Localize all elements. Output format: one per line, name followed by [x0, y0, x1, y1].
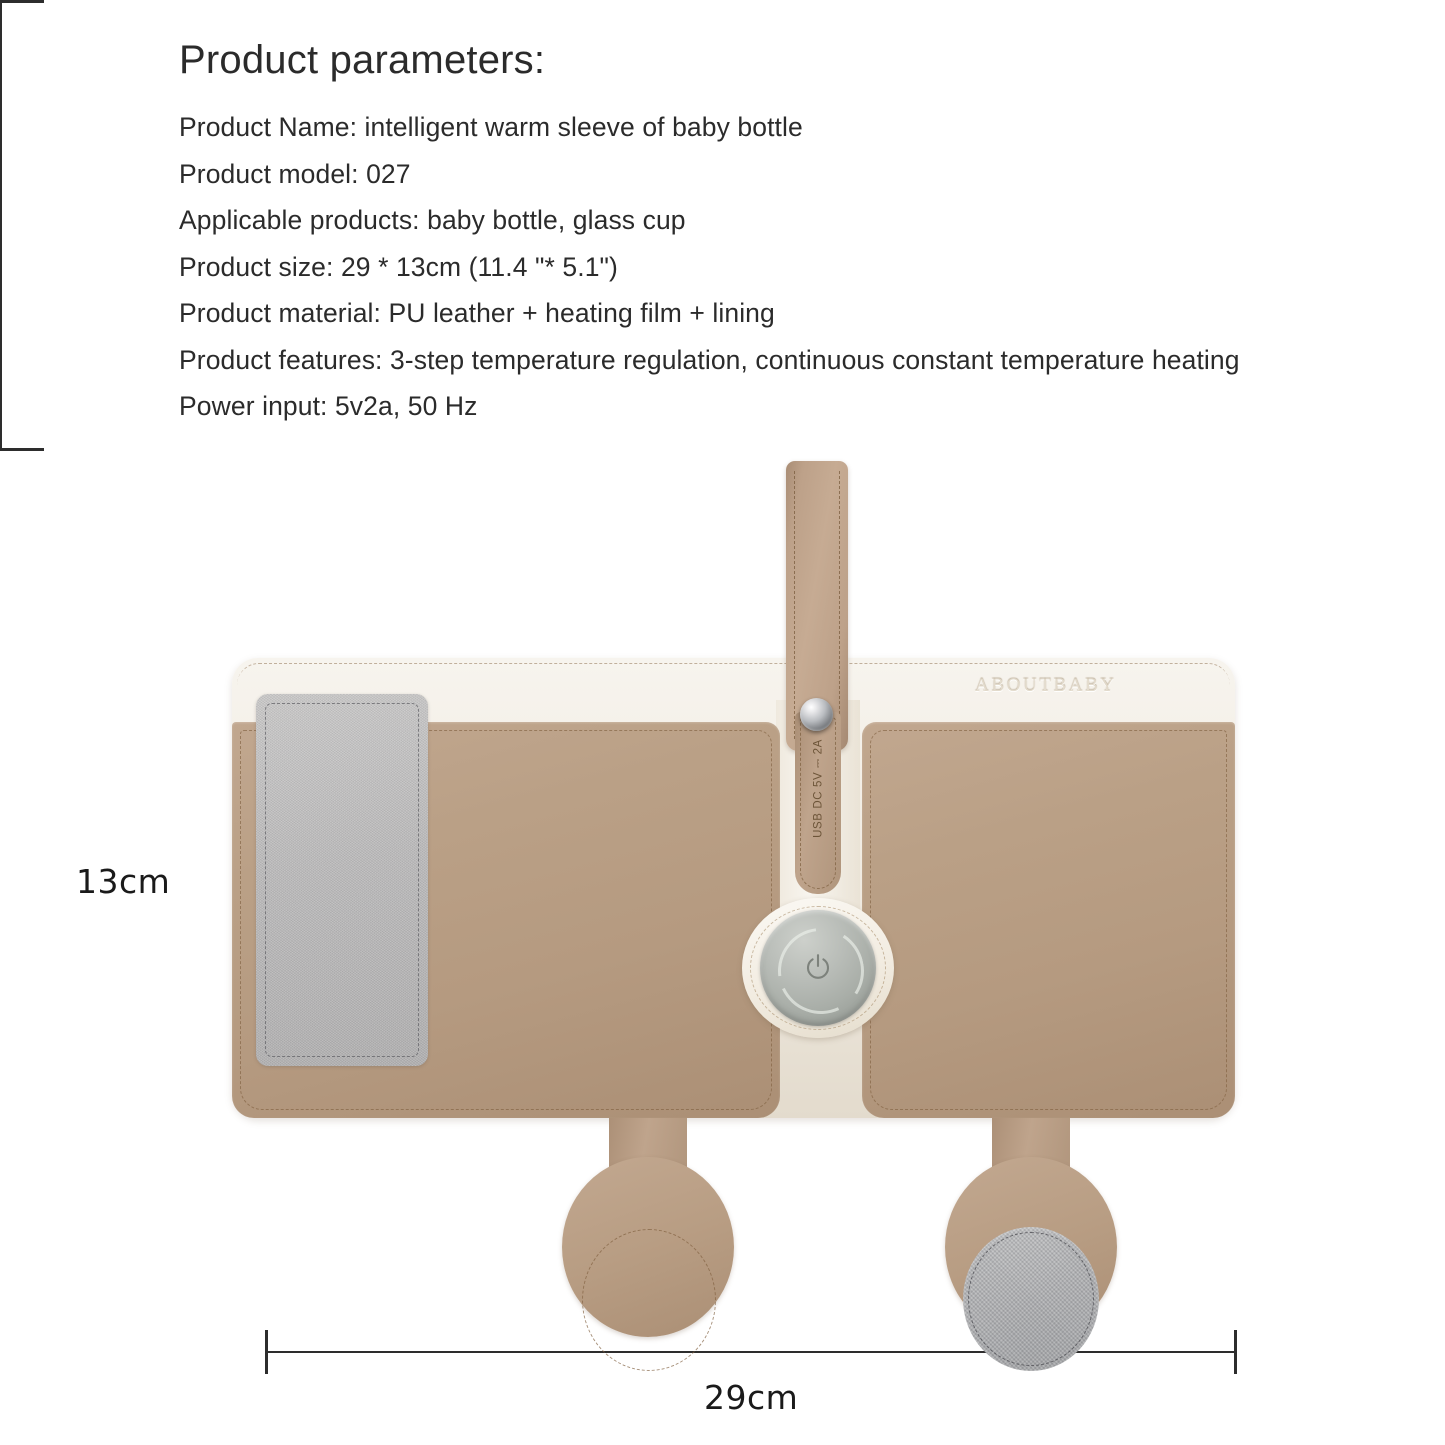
power-symbol-icon [803, 952, 833, 982]
closure-tab-left [562, 1105, 734, 1337]
width-dimension-line [266, 1351, 1237, 1353]
usb-rating-label: USB DC 5V ⎓ 2A [813, 719, 826, 859]
closure-tab-left-head [562, 1157, 734, 1337]
sleeve-panel-right [862, 722, 1235, 1118]
velcro-hook-patch [963, 1227, 1099, 1371]
strap-tail: USB DC 5V ⎓ 2A [795, 712, 841, 894]
closure-tab-right-head [945, 1157, 1117, 1337]
width-dimension-cap-right [1234, 1330, 1237, 1374]
brand-logo-emboss: ABOUTBABY [975, 675, 1117, 697]
height-dimension-cap-top [0, 0, 44, 3]
closure-tab-left-stitching [582, 1229, 716, 1371]
height-dimension-line [0, 3, 2, 448]
height-dimension-label: 13cm [76, 862, 170, 901]
velcro-loop-strip [256, 694, 428, 1066]
width-dimension-label: 29cm [704, 1378, 798, 1417]
product-photo: 13cm 29cm ABOUTBABY USB DC 5V ⎓ 2A [0, 0, 1445, 1445]
closure-tab-right [945, 1105, 1117, 1337]
power-button[interactable] [760, 910, 876, 1026]
height-dimension-cap-bottom [0, 448, 44, 451]
snap-button-icon [800, 698, 833, 731]
